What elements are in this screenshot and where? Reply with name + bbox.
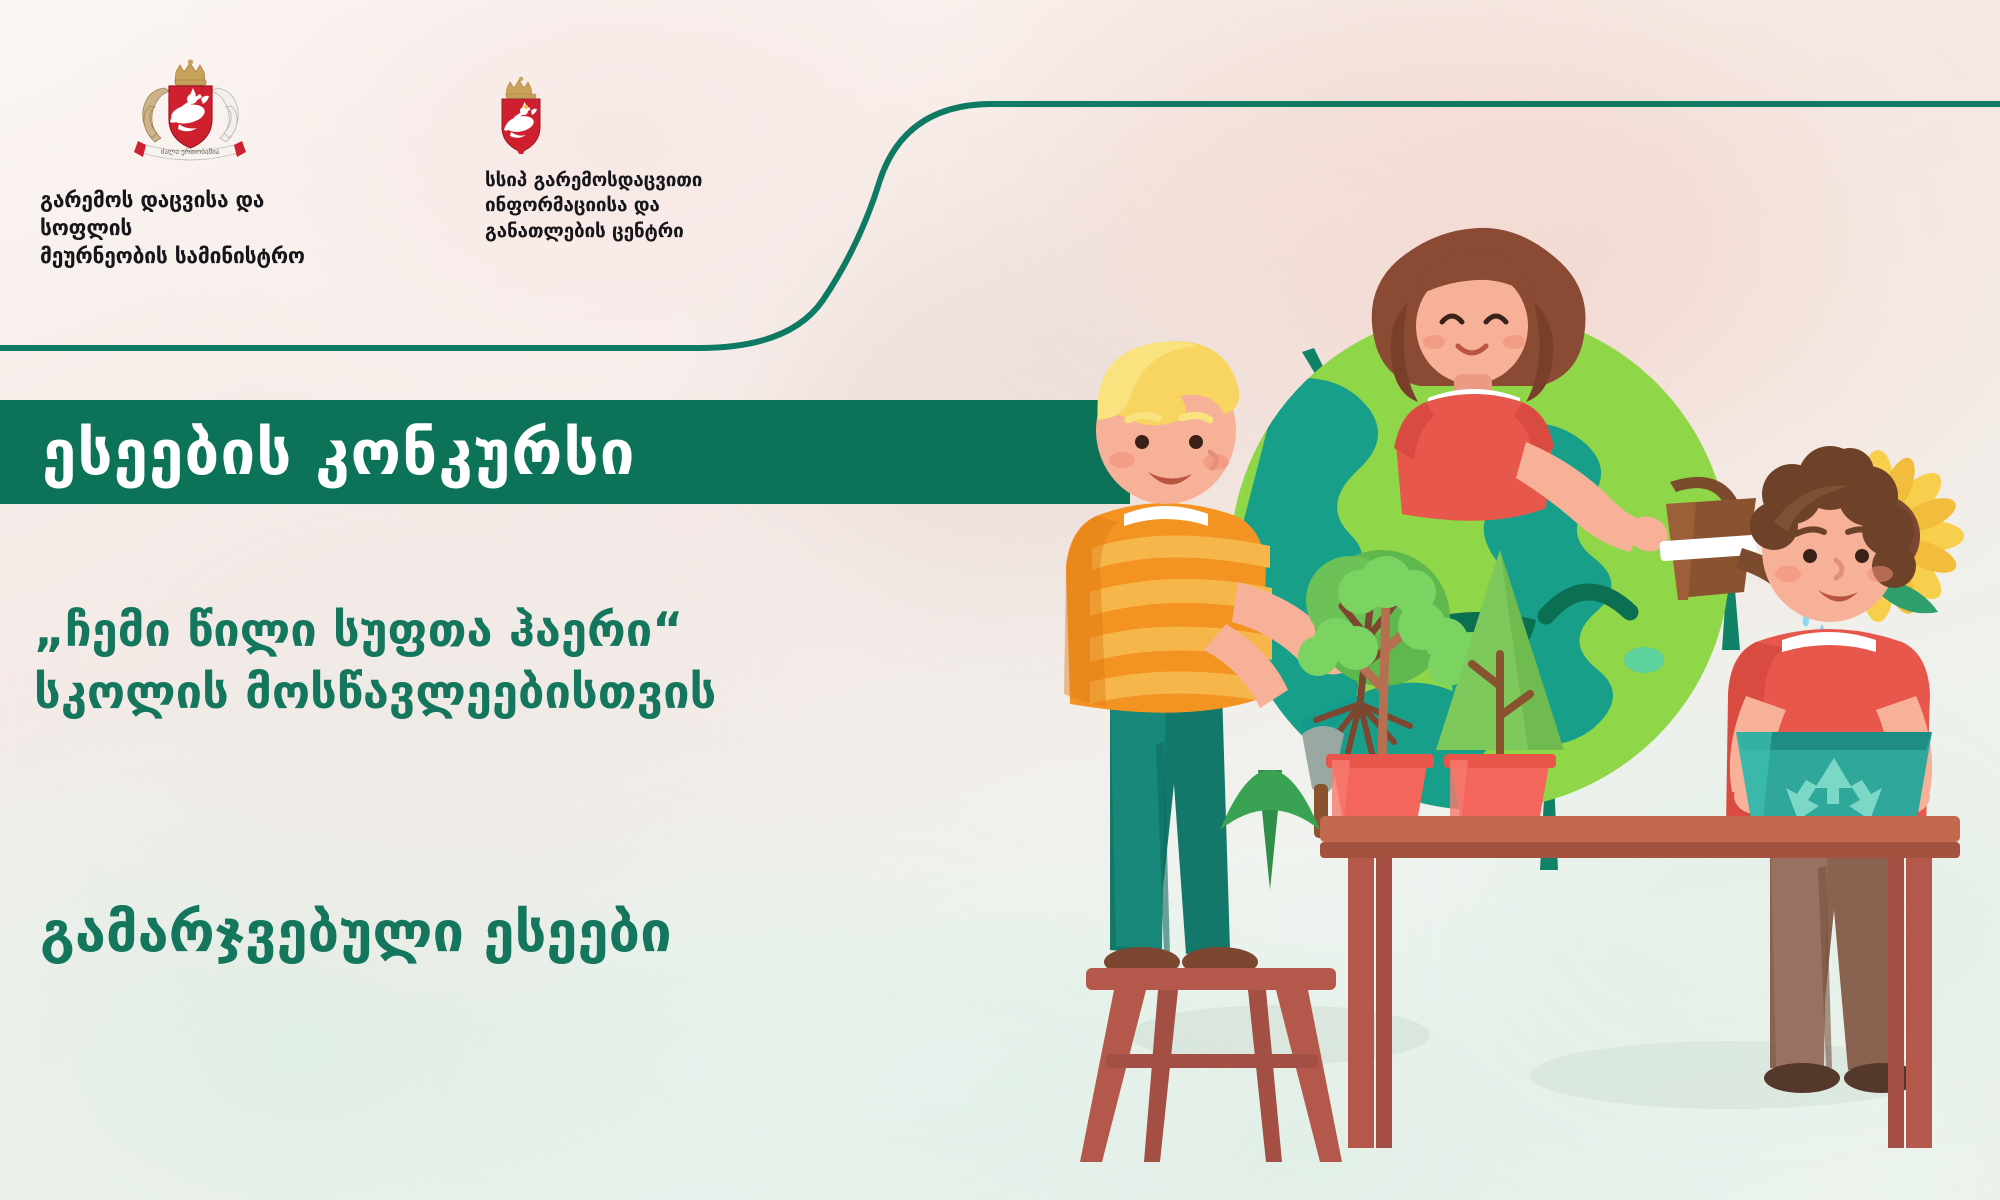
title-banner: ესეების კონკურსი — [0, 400, 1130, 504]
earth-blush-right — [1624, 647, 1664, 673]
ministry-logo-name-line-1: გარემოს დაცვისა და სოფლის — [40, 186, 340, 242]
center-logo-name-line-3: განათლების ცენტრი — [485, 219, 815, 244]
step-stool — [1080, 968, 1342, 1162]
page-title: ესეების კონკურსი — [0, 416, 636, 489]
ministry-logo: ძალა ერთობაშია გარემოს დაცვისა და სოფლის… — [40, 52, 340, 270]
header-logos: ძალა ერთობაშია გარემოს დაცვისა და სოფლის… — [0, 0, 1000, 340]
boy2-eye-left — [1803, 549, 1817, 563]
boy2-shoe-left — [1764, 1063, 1840, 1093]
illustration-svg — [1030, 130, 2000, 1200]
center-logo-name-line-2: ინფორმაციისა და — [485, 193, 815, 218]
poster-canvas: ძალა ერთობაშია გარემოს დაცვისა და სოფლის… — [0, 0, 2000, 1200]
boy-eye-left — [1135, 435, 1149, 449]
center-logo: სსიპ გარემოსდაცვითი ინფორმაციისა და განა… — [485, 72, 815, 244]
center-logo-name-line-1: სსიპ გარემოსდაცვითი — [485, 168, 815, 193]
center-logo-name: სსიპ გარემოსდაცვითი ინფორმაციისა და განა… — [485, 168, 815, 244]
georgia-shield-icon — [493, 72, 549, 154]
ministry-logo-name-line-2: მეურნეობის სამინისტრო — [40, 242, 340, 270]
boy2-eye-right — [1855, 549, 1869, 563]
children-planting-earth-illustration — [1030, 130, 2000, 1200]
georgia-coat-of-arms-icon: ძალა ერთობაშია — [124, 52, 256, 170]
ministry-logo-name: გარემოს დაცვისა და სოფლის მეურნეობის სამ… — [40, 186, 340, 270]
boy-eye-right — [1189, 435, 1203, 449]
svg-text:ძალა ერთობაშია: ძალა ერთობაშია — [161, 147, 220, 156]
